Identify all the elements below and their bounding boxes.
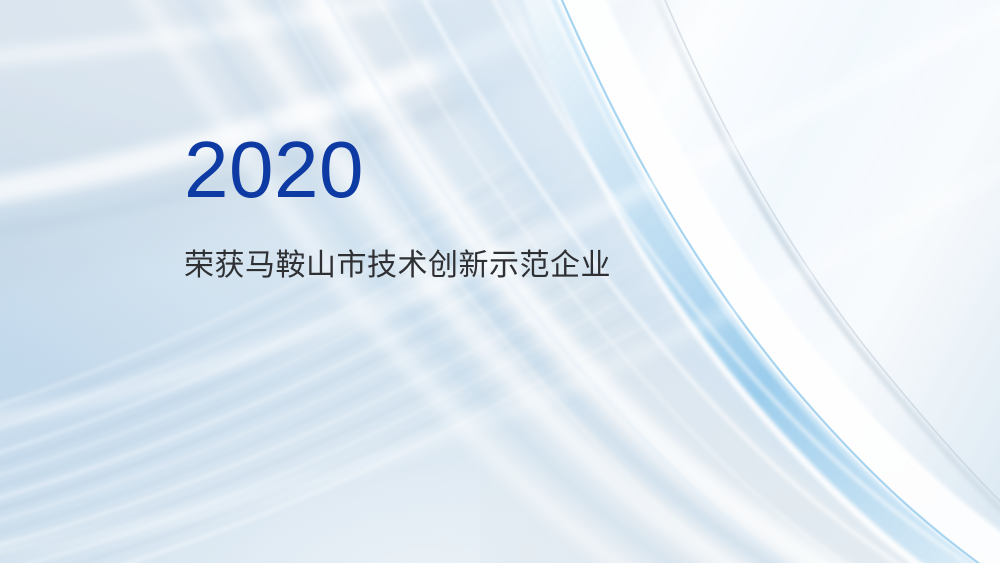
slide-canvas: 2020 荣获马鞍山市技术创新示范企业 — [0, 0, 1000, 563]
year-heading: 2020 — [184, 128, 611, 212]
award-subtitle: 荣获马鞍山市技术创新示范企业 — [184, 212, 611, 283]
title-block: 2020 荣获马鞍山市技术创新示范企业 — [184, 128, 611, 283]
